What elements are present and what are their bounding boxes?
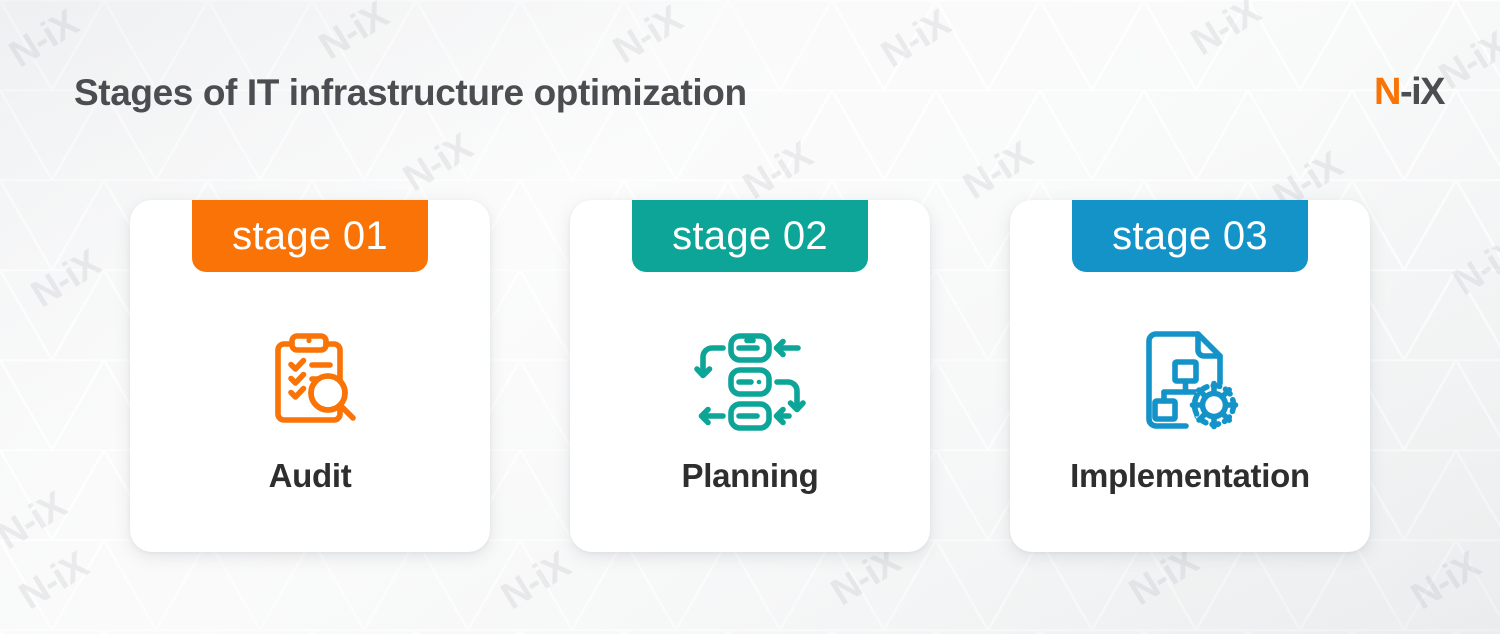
watermark-logo: N-iX	[396, 126, 480, 201]
page-title: Stages of IT infrastructure optimization	[74, 74, 747, 111]
stage-badge: stage 01	[192, 200, 428, 272]
stage-label: Implementation	[1010, 458, 1370, 494]
watermark-logo: N-iX	[1446, 230, 1500, 305]
header: Stages of IT infrastructure optimization…	[74, 62, 1444, 122]
stage-card-implementation[interactable]: stage 03	[1010, 200, 1370, 552]
workflow-arrows-icon	[570, 322, 930, 442]
document-hierarchy-gear-icon	[1010, 322, 1370, 442]
stage-label: Planning	[570, 458, 930, 494]
watermark-logo: N-iX	[0, 484, 74, 559]
infographic-canvas: N-iX N-iX N-iX N-iX N-iX N-iX N-iX N-iX …	[0, 0, 1500, 634]
watermark-logo: N-iX	[1404, 544, 1488, 619]
watermark-logo: N-iX	[24, 242, 108, 317]
logo-accent-letter: N	[1374, 71, 1400, 113]
stage-label: Audit	[130, 458, 490, 494]
stage-badge: stage 03	[1072, 200, 1308, 272]
watermark-logo: N-iX	[494, 544, 578, 619]
watermark-logo: N-iX	[1184, 0, 1268, 65]
watermark-logo: N-iX	[956, 134, 1040, 209]
stage-badge: stage 02	[632, 200, 868, 272]
stage-card-planning[interactable]: stage 02	[570, 200, 930, 552]
stage-cards-row: stage 01 Audit	[130, 200, 1370, 555]
nix-logo: N-iX	[1374, 73, 1444, 111]
watermark-logo: N-iX	[312, 0, 396, 69]
watermark-logo: N-iX	[12, 544, 96, 619]
clipboard-magnifier-icon	[130, 322, 490, 442]
logo-rest-letters: -iX	[1400, 71, 1444, 113]
watermark-logo: N-iX	[736, 134, 820, 209]
stage-card-audit[interactable]: stage 01 Audit	[130, 200, 490, 552]
